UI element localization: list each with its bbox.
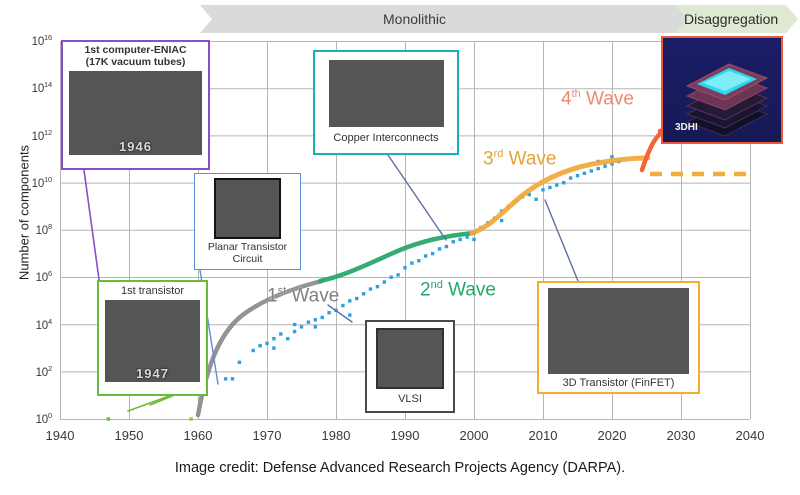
- scatter-point: [396, 273, 399, 276]
- scatter-point: [272, 337, 275, 340]
- callout-3dhi-label: 3DHI: [675, 122, 698, 133]
- callout-planar-transistor[interactable]: Planar Transistor Circuit: [194, 173, 301, 270]
- x-tick-1950: 1950: [99, 428, 159, 443]
- scatter-point: [293, 323, 296, 326]
- scatter-point: [258, 344, 261, 347]
- scatter-point: [452, 240, 455, 243]
- scatter-point: [410, 261, 413, 264]
- wave-3-suffix: rd: [494, 148, 504, 160]
- callout-finfet-photo: [548, 288, 689, 374]
- wave-2-ordinal: 2: [420, 279, 431, 300]
- callout-eniac-year: 1946: [69, 139, 202, 154]
- x-tick-2040: 2040: [720, 428, 780, 443]
- callout-first-transistor-caption: 1st transistor: [119, 282, 186, 297]
- scatter-point: [224, 377, 227, 380]
- callout-vlsi-caption: VLSI: [396, 389, 424, 405]
- scatter-point: [314, 325, 317, 328]
- callout-copper-interconnects[interactable]: Copper Interconnects: [313, 50, 459, 155]
- callout-eniac[interactable]: 1st computer-ENIAC (17K vacuum tubes) 19…: [61, 40, 210, 170]
- x-tick-2000: 2000: [444, 428, 504, 443]
- callout-eniac-photo: 1946: [69, 71, 202, 155]
- callout-first-transistor-year: 1947: [105, 366, 200, 381]
- callout-copper-interconnects-caption: Copper Interconnects: [331, 127, 440, 144]
- scatter-point: [459, 238, 462, 241]
- wave-2-suffix: nd: [431, 279, 443, 291]
- y-tick-1e16: 1016: [2, 33, 52, 48]
- scatter-point: [431, 252, 434, 255]
- leader-finfet: [545, 200, 578, 281]
- callout-planar-transistor-caption: Planar Transistor Circuit: [206, 239, 289, 266]
- wave-4-text: Wave: [586, 88, 634, 109]
- callout-finfet[interactable]: 3D Transistor (FinFET): [537, 281, 700, 394]
- figure-root: Monolithic Disaggregation: [0, 0, 800, 495]
- y-axis-title: Number of components: [17, 123, 32, 303]
- callout-finfet-caption: 3D Transistor (FinFET): [561, 374, 677, 389]
- scatter-point: [327, 311, 330, 314]
- callout-first-transistor-photo: 1947: [105, 300, 200, 382]
- x-tick-1980: 1980: [306, 428, 366, 443]
- scatter-point: [348, 299, 351, 302]
- x-tick-1960: 1960: [168, 428, 228, 443]
- wave-label-4: 4th Wave: [561, 88, 634, 110]
- scatter-point: [383, 280, 386, 283]
- scatter-point: [307, 320, 310, 323]
- scatter-point: [265, 342, 268, 345]
- x-tick-2020: 2020: [582, 428, 642, 443]
- callout-3dhi[interactable]: 3DHI: [661, 36, 783, 144]
- x-tick-1970: 1970: [237, 428, 297, 443]
- scatter-point: [238, 361, 241, 364]
- scatter-point: [362, 292, 365, 295]
- scatter-point: [252, 349, 255, 352]
- wave-label-2: 2nd Wave: [420, 279, 496, 301]
- scatter-point: [590, 169, 593, 172]
- callout-first-transistor[interactable]: 1st transistor 1947: [97, 280, 208, 396]
- y-tick-1e2: 102: [2, 364, 52, 379]
- scatter-point: [107, 417, 110, 420]
- wave-label-3: 3rd Wave: [483, 148, 557, 170]
- scatter-point: [355, 297, 358, 300]
- callout-copper-interconnects-photo: [329, 60, 444, 127]
- wave-2-text: Wave: [448, 279, 496, 300]
- scatter-point: [569, 176, 572, 179]
- scatter-point: [610, 155, 613, 158]
- wave-4-suffix: th: [572, 88, 581, 100]
- x-tick-1940: 1940: [30, 428, 90, 443]
- scatter-point: [500, 219, 503, 222]
- scatter-point: [348, 313, 351, 316]
- x-tick-2010: 2010: [513, 428, 573, 443]
- scatter-point: [321, 316, 324, 319]
- callout-vlsi[interactable]: VLSI: [365, 320, 455, 413]
- scatter-point: [597, 167, 600, 170]
- scatter-point: [576, 174, 579, 177]
- scatter-point: [541, 188, 544, 191]
- scatter-point: [189, 417, 192, 420]
- wave-1-ordinal: 1: [267, 285, 278, 306]
- scatter-point: [603, 165, 606, 168]
- scatter-point: [548, 186, 551, 189]
- scatter-point: [279, 332, 282, 335]
- scatter-point: [583, 172, 586, 175]
- wave-3-text: Wave: [509, 148, 557, 169]
- wave-label-1: 1st Wave: [267, 285, 339, 307]
- callout-planar-transistor-photo: [214, 178, 281, 239]
- figure-caption: Image credit: Defense Advanced Research …: [0, 460, 800, 476]
- scatter-point: [376, 285, 379, 288]
- scatter-point: [341, 304, 344, 307]
- wave-1-suffix: st: [278, 285, 287, 297]
- scatter-point: [369, 287, 372, 290]
- scatter-point: [286, 337, 289, 340]
- scatter-point: [534, 198, 537, 201]
- y-tick-1e14: 1014: [2, 80, 52, 95]
- scatter-point: [272, 346, 275, 349]
- callout-eniac-caption: 1st computer-ENIAC (17K vacuum tubes): [82, 42, 188, 69]
- wave-3-ordinal: 3: [483, 148, 494, 169]
- scatter-point: [445, 245, 448, 248]
- scatter-point: [417, 259, 420, 262]
- callout-vlsi-photo: [376, 328, 444, 389]
- scatter-point: [231, 377, 234, 380]
- x-tick-1990: 1990: [375, 428, 435, 443]
- scatter-point: [472, 238, 475, 241]
- wave-4-ordinal: 4: [561, 88, 572, 109]
- scatter-point: [562, 181, 565, 184]
- scatter-point: [555, 183, 558, 186]
- scatter-point: [300, 325, 303, 328]
- y-tick-1e4: 104: [2, 317, 52, 332]
- scatter-point: [293, 330, 296, 333]
- leader-copper: [388, 155, 446, 240]
- x-tick-2030: 2030: [651, 428, 711, 443]
- scatter-point: [403, 266, 406, 269]
- y-tick-1e0: 100: [2, 411, 52, 426]
- wave-1-text: Wave: [291, 285, 339, 306]
- scatter-point: [424, 254, 427, 257]
- scatter-point: [438, 247, 441, 250]
- scatter-point: [314, 318, 317, 321]
- scatter-point: [390, 276, 393, 279]
